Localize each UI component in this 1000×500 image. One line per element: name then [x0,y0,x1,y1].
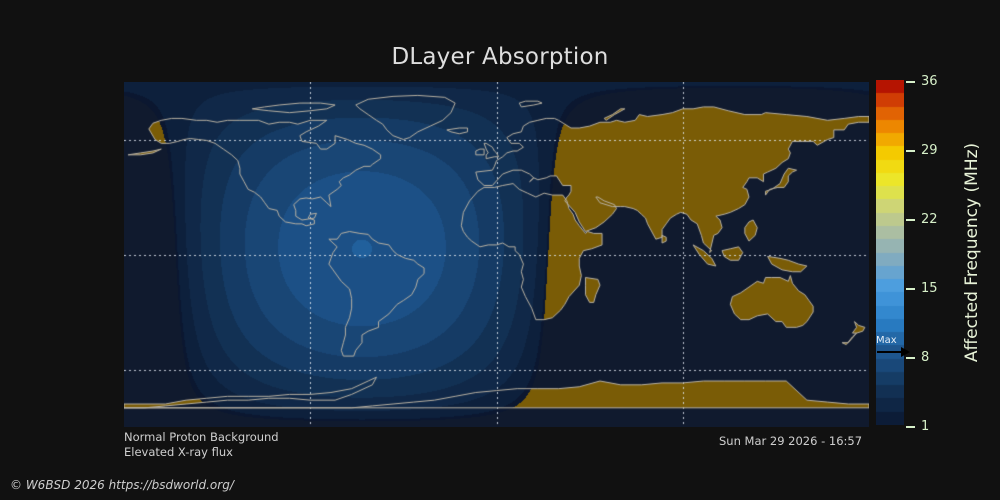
status-proton-background: Normal Proton Background [124,430,279,444]
colorbar-tick: 36 [906,74,952,86]
colorbar-tick: 22 [906,212,952,224]
map-canvas[interactable] [124,82,869,427]
timestamp: Sun Mar 29 2026 - 16:57 [719,434,862,448]
dlayer-absorption-app: DLayer Absorption Max 3629221581 Affecte… [0,0,1000,500]
colorbar-tick: 1 [906,419,952,431]
colorbar-tick: 15 [906,281,952,293]
colorbar: Max [876,80,904,425]
copyright-notice: © W6BSD 2026 https://bsdworld.org/ [10,478,234,492]
colorbar-gradient [876,80,904,425]
colorbar-tick: 29 [906,143,952,155]
colorbar-tick: 8 [906,350,952,362]
page-title: DLayer Absorption [0,44,1000,70]
colorbar-axis-label: Affected Frequency (MHz) [958,80,986,425]
world-absorption-map[interactable] [124,82,869,427]
status-xray-flux: Elevated X-ray flux [124,445,233,459]
